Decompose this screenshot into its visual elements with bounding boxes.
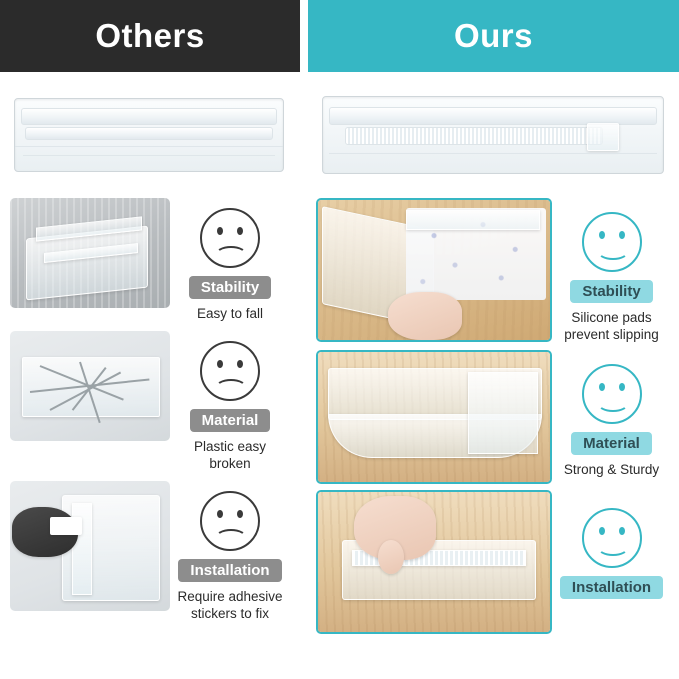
- sad-face-icon: [200, 491, 260, 551]
- others-material-photo: [10, 331, 170, 441]
- others-stability-text: Easy to fall: [191, 306, 269, 323]
- others-material-text: Plastic easy broken: [170, 439, 290, 473]
- others-stability-label: Stability: [189, 276, 271, 299]
- header-ours-title: Ours: [454, 17, 533, 55]
- comparison-infographic: Others Ours: [0, 0, 679, 679]
- others-installation-photo: [10, 481, 170, 611]
- others-hero-photo: [0, 72, 300, 194]
- ours-column: Stability Silicone pads prevent slipping…: [308, 72, 679, 634]
- ours-hero-photo: [308, 72, 679, 194]
- ours-material-photo: [316, 350, 552, 484]
- others-stability-photo: [10, 198, 170, 308]
- others-material-label: Material: [190, 409, 271, 432]
- happy-face-icon: [582, 508, 642, 568]
- ours-row-installation: Installation: [308, 484, 679, 634]
- others-installation-label: Installation: [178, 559, 281, 582]
- others-product-illustration: [14, 98, 284, 172]
- header: Others Ours: [0, 0, 679, 72]
- header-others-title: Others: [95, 17, 204, 55]
- others-stability-caption: Stability Easy to fall: [170, 198, 290, 323]
- sad-face-icon: [200, 208, 260, 268]
- others-row-stability: Stability Easy to fall: [0, 194, 300, 323]
- ours-material-text: Strong & Sturdy: [558, 462, 665, 479]
- ours-stability-label: Stability: [570, 280, 652, 303]
- ours-material-caption: Material Strong & Sturdy: [552, 350, 671, 479]
- sad-face-icon: [200, 341, 260, 401]
- ours-stability-text: Silicone pads prevent slipping: [552, 310, 671, 344]
- others-row-material: Material Plastic easy broken: [0, 323, 300, 473]
- ours-installation-caption: Installation: [552, 490, 671, 606]
- ours-row-stability: Stability Silicone pads prevent slipping: [308, 194, 679, 344]
- ours-product-illustration: [322, 96, 664, 174]
- others-row-installation: Installation Require adhesive stickers t…: [0, 473, 300, 623]
- ours-installation-photo: [316, 490, 552, 634]
- others-material-caption: Material Plastic easy broken: [170, 331, 290, 473]
- happy-face-icon: [582, 364, 642, 424]
- header-ours: Ours: [308, 0, 679, 72]
- others-installation-text: Require adhesive stickers to fix: [170, 589, 290, 623]
- column-divider: [300, 72, 308, 679]
- ours-row-material: Material Strong & Sturdy: [308, 344, 679, 484]
- ours-material-label: Material: [571, 432, 652, 455]
- happy-face-icon: [582, 212, 642, 272]
- others-installation-caption: Installation Require adhesive stickers t…: [170, 481, 290, 623]
- others-column: Stability Easy to fall Material Plastic: [0, 72, 300, 622]
- ours-installation-label: Installation: [560, 576, 663, 599]
- ours-stability-photo: [316, 198, 552, 342]
- ours-stability-caption: Stability Silicone pads prevent slipping: [552, 198, 671, 344]
- header-others: Others: [0, 0, 300, 72]
- header-gap: [300, 0, 308, 72]
